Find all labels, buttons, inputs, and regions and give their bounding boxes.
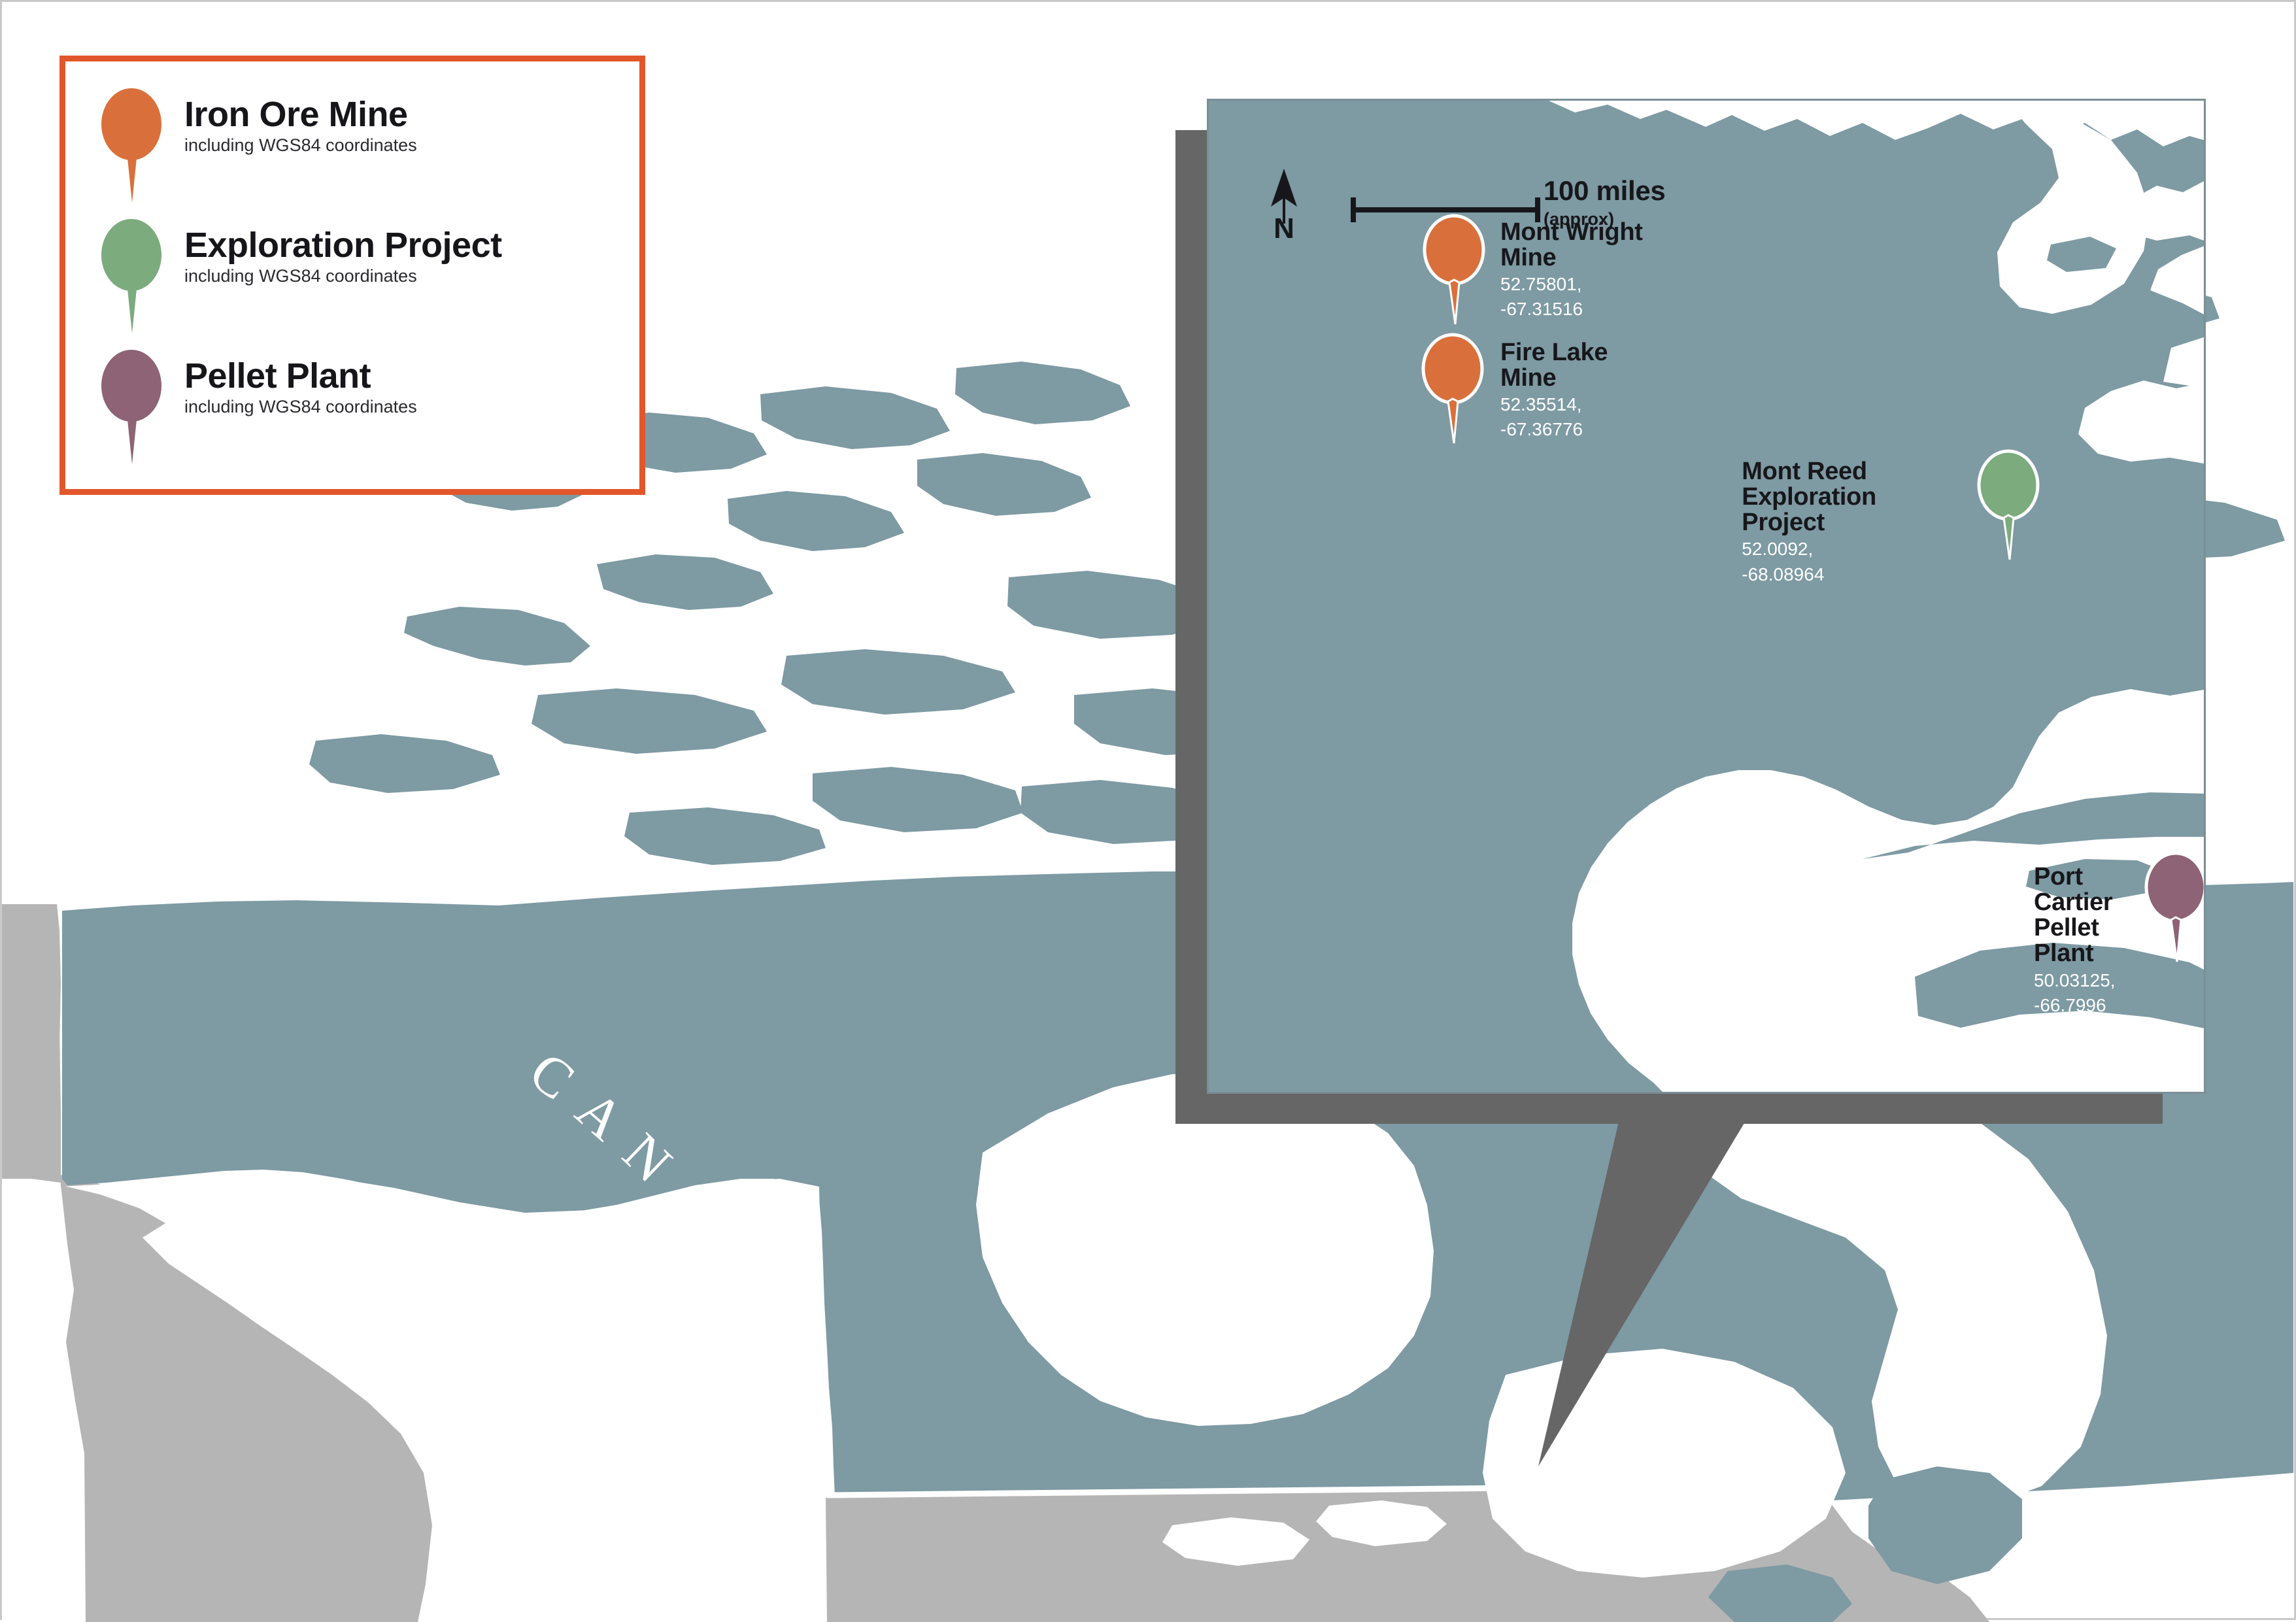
- inset-callout-pointer: [1532, 1074, 1872, 1479]
- north-arrow-letter: N: [1266, 214, 1302, 243]
- site-latitude: 50.03125,: [2034, 970, 2119, 992]
- site-label-mont-wright-mine: Mont Wright Mine 52.75801, -67.31516: [1500, 220, 1643, 321]
- site-longitude: -67.36776: [1500, 418, 1608, 441]
- legend-item-label: Iron Ore Mine: [184, 97, 417, 133]
- site-longitude: -68.08964: [1742, 564, 1876, 586]
- site-name-line: Mont Reed: [1742, 459, 1876, 484]
- site-label-port-cartier-pellet-plant: Port Cartier Pellet Plant 50.03125, -66.…: [2034, 864, 2119, 1017]
- map-pin-icon[interactable]: [1972, 447, 2044, 562]
- legend-item-text: Iron Ore Mine including WGS84 coordinate…: [184, 80, 417, 156]
- site-longitude: -67.31516: [1500, 298, 1643, 320]
- site-name-line: Mine: [1500, 245, 1643, 271]
- site-name-line: Fire Lake: [1500, 340, 1608, 365]
- legend-item-sublabel: including WGS84 coordinates: [184, 397, 417, 417]
- site-latitude: 52.0092,: [1742, 538, 1876, 560]
- legend-item-label: Pellet Plant: [184, 358, 417, 394]
- site-latitude: 52.35514,: [1500, 394, 1608, 416]
- legend-item-iron-ore-mine[interactable]: Iron Ore Mine including WGS84 coordinate…: [89, 80, 417, 204]
- map-figure: CANADA Iron Ore Mine including WGS84 coo…: [0, 0, 2296, 1620]
- site-name-line: Exploration: [1742, 484, 1876, 510]
- site-label-fire-lake-mine: Fire Lake Mine 52.35514, -67.36776: [1500, 340, 1608, 441]
- map-pin-icon: [89, 341, 174, 465]
- site-longitude: -66.7996: [2034, 994, 2119, 1017]
- site-name-line: Port Cartier: [2034, 864, 2119, 915]
- map-pin-icon[interactable]: [1417, 331, 1489, 445]
- site-name-line: Pellet Plant: [2034, 915, 2119, 966]
- map-pin-icon[interactable]: [1418, 212, 1490, 326]
- inset-map-panel: N 100 miles (approx) Mont Wright Mine 52…: [1207, 99, 2206, 1094]
- legend-item-text: Pellet Plant including WGS84 coordinates: [184, 341, 417, 417]
- scale-distance-label: 100 miles: [1544, 177, 1665, 205]
- legend-item-sublabel: including WGS84 coordinates: [184, 267, 502, 286]
- site-name-line: Mont Wright: [1500, 220, 1643, 245]
- site-name-line: Mine: [1500, 365, 1608, 391]
- legend-item-exploration-project[interactable]: Exploration Project including WGS84 coor…: [89, 211, 502, 335]
- map-pin-icon: [89, 211, 174, 335]
- newfoundland: [1868, 1466, 2022, 1584]
- alaska-landmass-fill: [2, 904, 61, 1183]
- legend-item-pellet-plant[interactable]: Pellet Plant including WGS84 coordinates: [89, 341, 417, 465]
- site-label-mont-reed-exploration-project: Mont Reed Exploration Project 52.0092, -…: [1742, 459, 1876, 586]
- legend-item-label: Exploration Project: [184, 228, 502, 263]
- map-pin-icon: [89, 80, 174, 204]
- legend-item-sublabel: including WGS84 coordinates: [184, 136, 417, 156]
- legend-item-text: Exploration Project including WGS84 coor…: [184, 211, 502, 286]
- legend-panel: Iron Ore Mine including WGS84 coordinate…: [59, 56, 645, 495]
- map-pin-icon[interactable]: [2140, 849, 2206, 964]
- site-name-line: Project: [1742, 510, 1876, 535]
- site-latitude: 52.75801,: [1500, 273, 1643, 296]
